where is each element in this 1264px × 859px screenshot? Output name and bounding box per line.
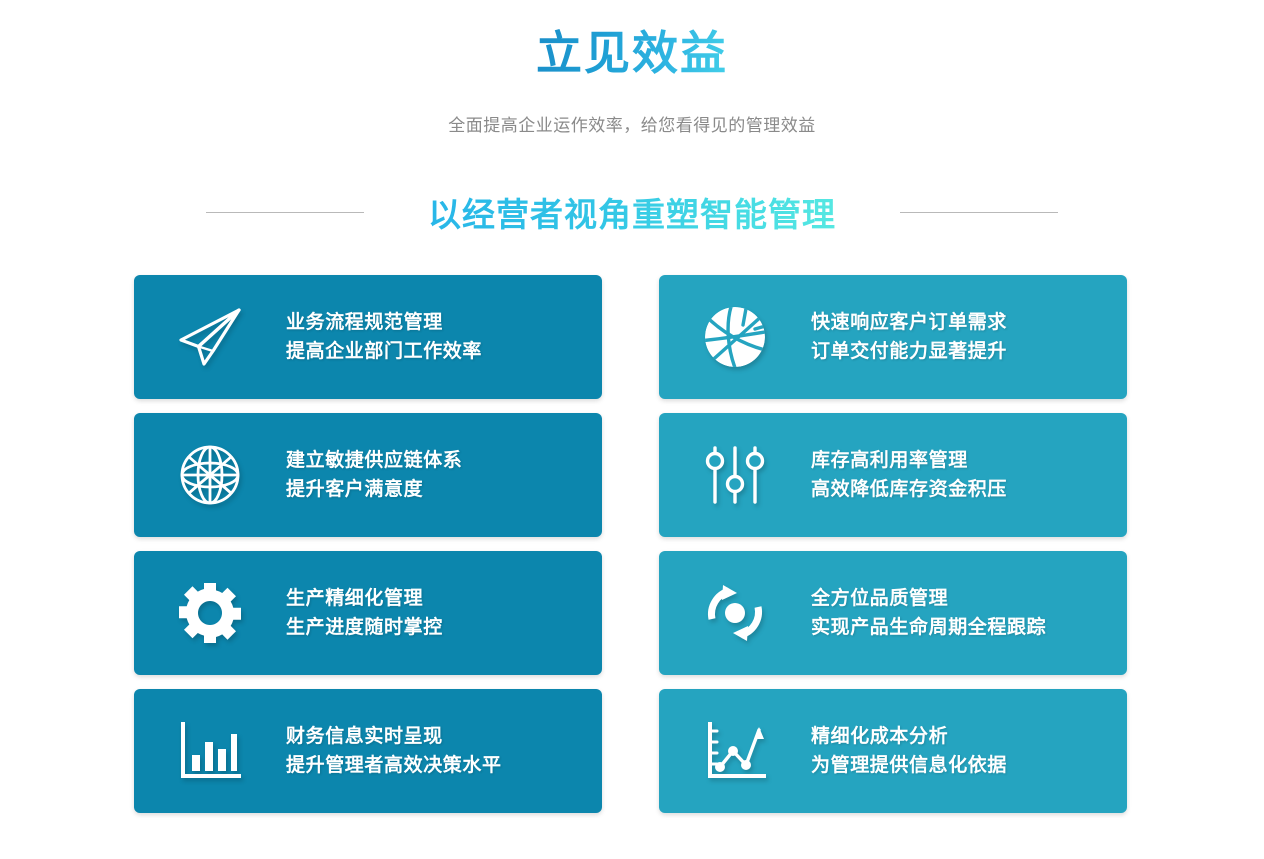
benefit-card-text: 业务流程规范管理 提高企业部门工作效率	[286, 308, 482, 367]
benefit-card[interactable]: 精细化成本分析 为管理提供信息化依据	[659, 689, 1127, 813]
benefit-card-line2: 提升管理者高效决策水平	[286, 751, 502, 780]
benefit-card-line2: 提升客户满意度	[286, 475, 462, 504]
benefit-card[interactable]: 业务流程规范管理 提高企业部门工作效率	[134, 275, 602, 399]
page-subtitle: 全面提高企业运作效率，给您看得见的管理效益	[0, 111, 1264, 136]
bar-chart-icon	[174, 722, 246, 780]
globe-wireframe-icon	[174, 444, 246, 506]
benefit-card-line1: 业务流程规范管理	[286, 312, 443, 333]
benefit-card-line2: 实现产品生命周期全程跟踪	[811, 613, 1046, 642]
benefit-card-text: 建立敏捷供应链体系 提升客户满意度	[286, 446, 462, 505]
benefit-card-line1: 生产精细化管理	[286, 588, 423, 609]
benefit-card[interactable]: 库存高利用率管理 高效降低库存资金积压	[659, 413, 1127, 537]
network-sphere-icon	[699, 305, 771, 369]
benefit-card[interactable]: 建立敏捷供应链体系 提升客户满意度	[134, 413, 602, 537]
benefit-card-text: 精细化成本分析 为管理提供信息化依据	[811, 722, 1007, 781]
benefit-card[interactable]: 生产精细化管理 生产进度随时掌控	[134, 551, 602, 675]
section-heading: 以经营者视角重塑智能管理	[0, 188, 1264, 236]
divider-line-left	[206, 212, 364, 213]
benefit-card-line1: 精细化成本分析	[811, 726, 948, 747]
benefit-card-line1: 快速响应客户订单需求	[811, 312, 1007, 333]
benefit-card-line2: 提高企业部门工作效率	[286, 337, 482, 366]
benefit-card-text: 生产精细化管理 生产进度随时掌控	[286, 584, 443, 643]
line-chart-icon	[699, 722, 771, 780]
page-root: 立见效益 全面提高企业运作效率，给您看得见的管理效益 以经营者视角重塑智能管理 …	[0, 0, 1264, 859]
benefit-card[interactable]: 快速响应客户订单需求 订单交付能力显著提升	[659, 275, 1127, 399]
page-title: 立见效益	[536, 26, 728, 81]
gear-icon	[174, 581, 246, 645]
benefit-card-text: 全方位品质管理 实现产品生命周期全程跟踪	[811, 584, 1046, 643]
benefit-card-text: 库存高利用率管理 高效降低库存资金积压	[811, 446, 1007, 505]
benefit-card[interactable]: 全方位品质管理 实现产品生命周期全程跟踪	[659, 551, 1127, 675]
benefit-card-line1: 财务信息实时呈现	[286, 726, 443, 747]
benefit-card-line1: 库存高利用率管理	[811, 450, 968, 471]
divider-line-right	[900, 212, 1058, 213]
paper-plane-icon	[174, 306, 246, 368]
benefit-card-line2: 高效降低库存资金积压	[811, 475, 1007, 504]
benefit-card-line1: 全方位品质管理	[811, 588, 948, 609]
benefit-card-line2: 生产进度随时掌控	[286, 613, 443, 642]
refresh-cycle-icon	[699, 581, 771, 645]
sliders-icon	[699, 444, 771, 506]
benefit-card[interactable]: 财务信息实时呈现 提升管理者高效决策水平	[134, 689, 602, 813]
benefit-card-text: 财务信息实时呈现 提升管理者高效决策水平	[286, 722, 502, 781]
benefit-card-grid: 业务流程规范管理 提高企业部门工作效率	[134, 275, 1130, 813]
benefit-card-text: 快速响应客户订单需求 订单交付能力显著提升	[811, 308, 1007, 367]
benefit-card-line2: 订单交付能力显著提升	[811, 337, 1007, 366]
hero-section: 立见效益 全面提高企业运作效率，给您看得见的管理效益	[0, 0, 1264, 136]
section-title: 以经营者视角重塑智能管理	[428, 188, 836, 236]
benefit-card-line2: 为管理提供信息化依据	[811, 751, 1007, 780]
benefit-card-line1: 建立敏捷供应链体系	[286, 450, 462, 471]
